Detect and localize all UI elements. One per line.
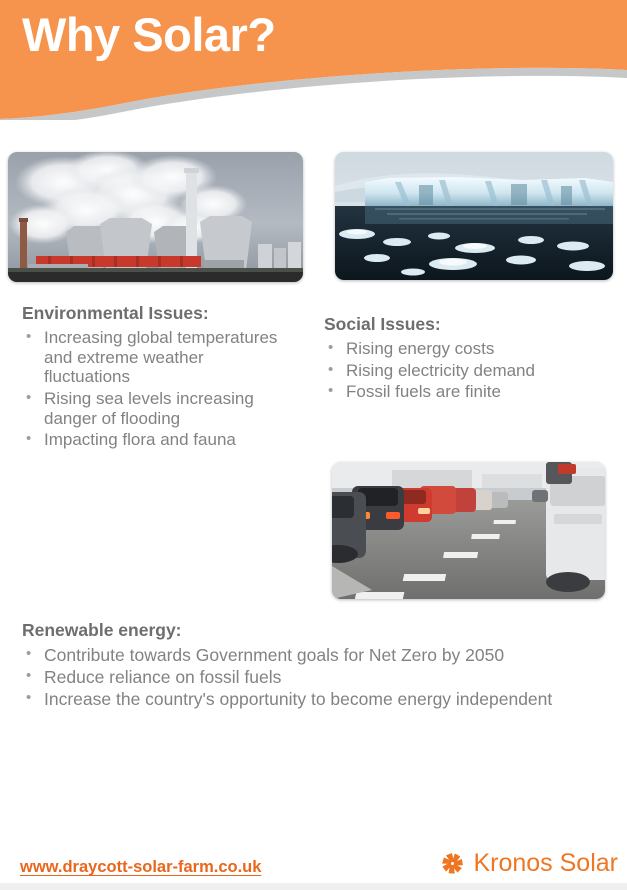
environmental-issues-heading: Environmental Issues: [22,303,292,325]
renewable-energy-block: Renewable energy: Contribute towards Gov… [22,620,612,712]
list-item: Increase the country's opportunity to be… [22,689,612,709]
social-issues-heading: Social Issues: [324,314,624,336]
sun-pinwheel-icon [440,851,465,876]
list-item: Fossil fuels are finite [324,382,624,402]
renewable-energy-list: Contribute towards Government goals for … [22,645,612,710]
footer-divider [0,883,627,890]
list-item: Reduce reliance on fossil fuels [22,667,612,687]
list-item: Increasing global temperatures and extre… [22,328,292,387]
power-station-emissions-photo [8,152,303,282]
header-band: Why Solar? [0,0,627,120]
page-title: Why Solar? [22,8,276,62]
list-item: Impacting flora and fauna [22,430,292,450]
slide-why-solar: Why Solar? [0,0,627,890]
list-item: Contribute towards Government goals for … [22,645,612,665]
traffic-congestion-photo [332,462,605,599]
brand-name: Kronos Solar [473,851,618,876]
melting-iceberg-photo [335,152,613,280]
environmental-issues-block: Environmental Issues: Increasing global … [22,303,292,452]
website-url-link[interactable]: www.draycott-solar-farm.co.uk [20,858,261,877]
brand-logo: Kronos Solar [440,851,618,876]
social-issues-block: Social Issues: Rising energy costs Risin… [324,314,624,404]
list-item: Rising electricity demand [324,361,624,381]
social-issues-list: Rising energy costs Rising electricity d… [324,339,624,402]
environmental-issues-list: Increasing global temperatures and extre… [22,328,292,450]
list-item: Rising sea levels increasing danger of f… [22,389,292,428]
renewable-energy-heading: Renewable energy: [22,620,612,642]
list-item: Rising energy costs [324,339,624,359]
